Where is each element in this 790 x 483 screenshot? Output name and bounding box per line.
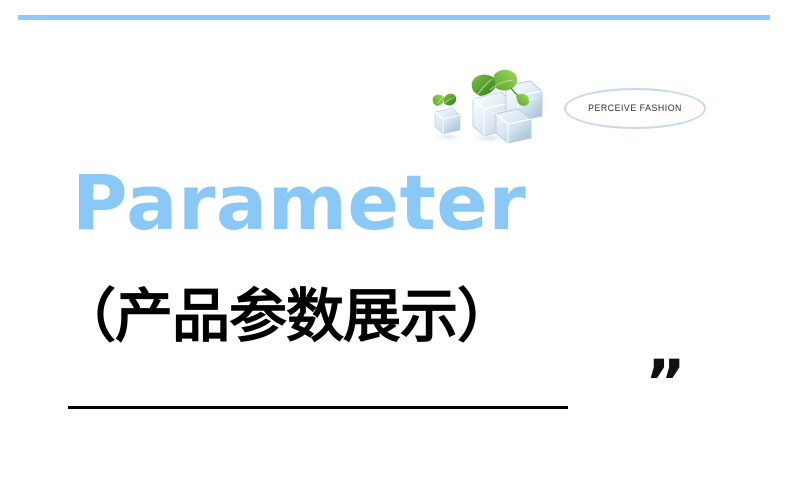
- ice-cubes-with-mint-photo: [418, 64, 546, 148]
- top-accent-rule: [18, 15, 770, 20]
- headline-english: Parameter: [72, 160, 526, 246]
- perceive-fashion-badge: PERCEIVE FASHION: [564, 88, 706, 129]
- bottom-divider: [68, 406, 568, 409]
- product-parameter-banner: PERCEIVE FASHION Parameter （产品参数展示） ”: [0, 0, 790, 483]
- headline-chinese: （产品参数展示）: [58, 281, 514, 351]
- quote-mark-glyph: ”: [645, 352, 684, 414]
- badge-label: PERCEIVE FASHION: [570, 88, 701, 129]
